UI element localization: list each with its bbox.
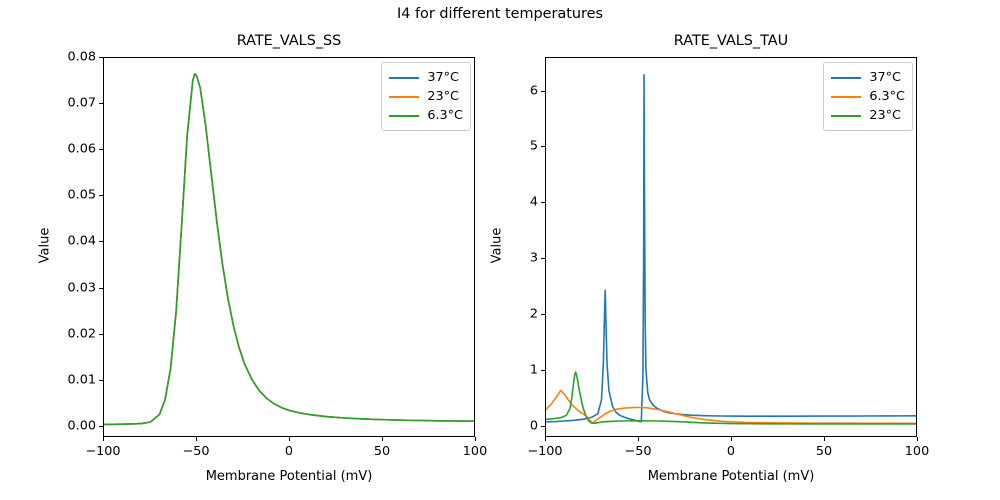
y-tickmark: [541, 426, 545, 427]
axes-rate-vals-tau: RATE_VALS_TAU 37°C6.3°C23°C: [545, 57, 917, 437]
y-tickmark: [541, 370, 545, 371]
y-tickmark: [541, 202, 545, 203]
y-tick-label: 0.03: [13, 280, 96, 295]
legend-item[interactable]: 37°C: [389, 68, 463, 87]
y-tick-label: 0.07: [13, 96, 96, 111]
legend-swatch-line: [389, 96, 419, 98]
y-tick-label: 0.02: [13, 326, 96, 341]
legend-right[interactable]: 37°C6.3°C23°C: [823, 62, 913, 131]
y-axis-label: Value: [490, 186, 505, 306]
x-tick-label: −50: [182, 444, 209, 459]
x-tick-label: 0: [285, 444, 293, 459]
y-tick-label: 0: [455, 418, 538, 433]
y-tick-label: 1: [455, 362, 538, 377]
x-tick-label: 100: [463, 444, 487, 459]
y-tick-label: 0.01: [13, 372, 96, 387]
legend-item[interactable]: 23°C: [389, 87, 463, 106]
y-tickmark: [99, 380, 103, 381]
figure-suptitle: I4 for different temperatures: [0, 6, 1000, 22]
y-tick-label: 2: [455, 307, 538, 322]
x-tick-label: −50: [624, 444, 651, 459]
axes-left-title: RATE_VALS_SS: [103, 33, 475, 49]
x-axis-label: Membrane Potential (mV): [103, 469, 475, 484]
x-tick-label: −100: [85, 444, 120, 459]
x-tick-label: 50: [374, 444, 390, 459]
x-tickmark: [289, 437, 290, 441]
legend-swatch-line: [831, 77, 861, 79]
axes-right-title: RATE_VALS_TAU: [545, 33, 917, 49]
legend-item[interactable]: 37°C: [831, 68, 905, 87]
x-axis-label: Membrane Potential (mV): [545, 469, 917, 484]
axes-rate-vals-ss: RATE_VALS_SS 37°C23°C6.3°C: [103, 57, 475, 437]
matplotlib-figure: I4 for different temperatures RATE_VALS_…: [0, 0, 1000, 500]
y-tickmark: [541, 314, 545, 315]
legend-label: 37°C: [869, 70, 901, 85]
y-tickmark: [541, 146, 545, 147]
x-tick-label: 50: [816, 444, 832, 459]
y-axis-label: Value: [38, 186, 53, 306]
y-tickmark: [99, 57, 103, 58]
x-tickmark: [917, 437, 918, 441]
y-tickmark: [99, 426, 103, 427]
legend-item[interactable]: 6.3°C: [831, 87, 905, 106]
y-tickmark: [99, 334, 103, 335]
legend-label: 23°C: [869, 108, 901, 123]
x-tickmark: [475, 437, 476, 441]
y-tickmark: [99, 241, 103, 242]
x-tickmark: [824, 437, 825, 441]
legend-swatch-line: [831, 115, 861, 117]
x-tickmark: [382, 437, 383, 441]
x-tickmark: [545, 437, 546, 441]
y-tick-label: 0.06: [13, 142, 96, 157]
y-tick-label: 5: [455, 139, 538, 154]
y-tick-label: 0.00: [13, 418, 96, 433]
x-tickmark: [103, 437, 104, 441]
legend-swatch-line: [831, 96, 861, 98]
x-tick-label: 100: [905, 444, 929, 459]
y-tick-label: 0.08: [13, 50, 96, 65]
x-tickmark: [638, 437, 639, 441]
x-tick-label: 0: [727, 444, 735, 459]
legend-item[interactable]: 6.3°C: [389, 106, 463, 125]
legend-item[interactable]: 23°C: [831, 106, 905, 125]
y-tickmark: [99, 149, 103, 150]
y-tickmark: [541, 91, 545, 92]
y-tickmark: [541, 258, 545, 259]
x-tickmark: [731, 437, 732, 441]
legend-swatch-line: [389, 77, 419, 79]
y-tickmark: [99, 195, 103, 196]
legend-label: 6.3°C: [427, 108, 463, 123]
y-tick-label: 0.04: [13, 234, 96, 249]
y-tickmark: [99, 288, 103, 289]
x-tick-label: −100: [527, 444, 562, 459]
y-tickmark: [99, 103, 103, 104]
y-tick-label: 0.05: [13, 188, 96, 203]
legend-label: 6.3°C: [869, 89, 905, 104]
x-tickmark: [196, 437, 197, 441]
legend-swatch-line: [389, 115, 419, 117]
y-tick-label: 6: [455, 83, 538, 98]
